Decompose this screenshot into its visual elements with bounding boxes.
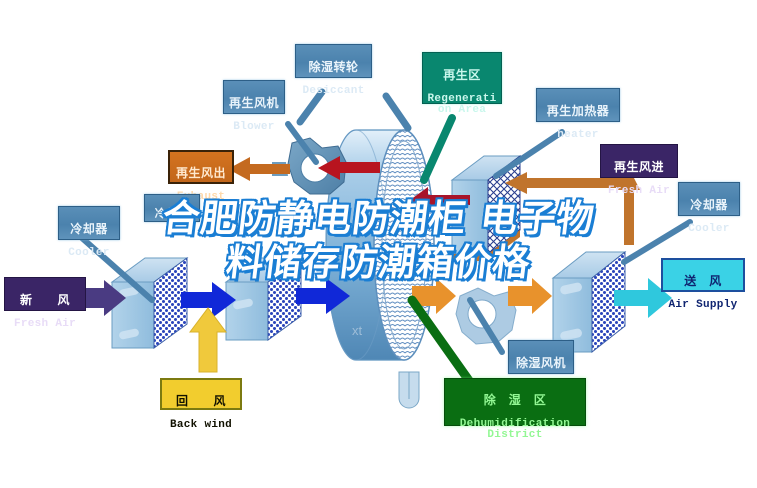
label-regen-heater[interactable]: 再生加热器 heater <box>536 88 620 122</box>
label-desiccant-cn: 除湿转轮 <box>296 61 371 74</box>
label-cooler-left[interactable]: 冷却器 Cooler <box>58 206 120 240</box>
label-back-wind-cn: 回 风 <box>162 395 240 408</box>
label-back-wind[interactable]: 回 风 Back wind <box>160 378 242 410</box>
dehumidification-blower <box>456 288 516 344</box>
label-dehum-blower[interactable]: 除湿风机 Blower <box>508 340 574 374</box>
label-dehum-area-en: Dehumidification District <box>445 419 585 442</box>
label-air-supply-cn: 送 风 <box>663 275 743 288</box>
label-dehumidification-district[interactable]: 除 湿 区 Dehumidification District <box>444 378 586 426</box>
label-regen-exhaust[interactable]: 再生风出 Exhaust <box>168 150 234 184</box>
label-cooler-mid-cn: 冷却器 <box>145 209 199 221</box>
label-desiccant-en: Desiccant <box>296 86 371 98</box>
label-regen-out-cn: 再生风出 <box>170 167 232 180</box>
label-cooler-right[interactable]: 冷却器 Cooler <box>678 182 740 216</box>
label-air-supply[interactable]: 送 风 Air Supply <box>661 258 745 292</box>
diagram-canvas: xt <box>0 0 757 488</box>
label-fresh-air[interactable]: 新 风 Fresh Air <box>4 277 86 311</box>
label-dehum-area-cn: 除 湿 区 <box>445 394 585 407</box>
label-desiccant[interactable]: 除湿转轮 Desiccant <box>295 44 372 78</box>
label-regeneration-area-en: Regenerati on Area <box>423 94 501 117</box>
cooler-unit-mid <box>226 258 301 340</box>
label-regen-heater-cn: 再生加热器 <box>537 105 619 118</box>
label-regen-heater-en: heater <box>537 130 619 142</box>
arrow-exhaust-out <box>228 157 290 181</box>
label-fresh-air-cn: 新 风 <box>5 294 85 307</box>
label-regen-in-en: Fresh Air <box>601 186 677 198</box>
label-regeneration-area[interactable]: 再生区 Regenerati on Area <box>422 52 502 104</box>
label-fresh-air-en: Fresh Air <box>5 319 85 331</box>
label-dehum-blower-cn: 除湿风机 <box>509 357 573 370</box>
label-cooler-right-cn: 冷却器 <box>679 199 739 212</box>
label-regen-blower[interactable]: 再生风机 Blower <box>223 80 285 114</box>
label-regen-in-cn: 再生风进 <box>601 161 677 174</box>
label-back-wind-en: Back wind <box>162 420 240 432</box>
regeneration-heater-unit <box>452 156 520 261</box>
label-air-supply-en: Air Supply <box>663 300 743 312</box>
label-cooler-mid[interactable]: 冷却器 <box>144 194 200 222</box>
arrow-back-wind-up <box>190 308 226 372</box>
label-regen-blower-cn: 再生风机 <box>224 97 284 110</box>
label-cooler-right-en: Cooler <box>679 224 739 236</box>
label-cooler-left-en: Cooler <box>59 248 119 260</box>
label-regen-fresh-air-in[interactable]: 再生风进 Fresh Air <box>600 144 678 178</box>
svg-text:xt: xt <box>352 323 363 338</box>
label-regeneration-area-cn: 再生区 <box>423 69 501 82</box>
label-regen-blower-en: Blower <box>224 122 284 134</box>
label-cooler-left-cn: 冷却器 <box>59 223 119 236</box>
